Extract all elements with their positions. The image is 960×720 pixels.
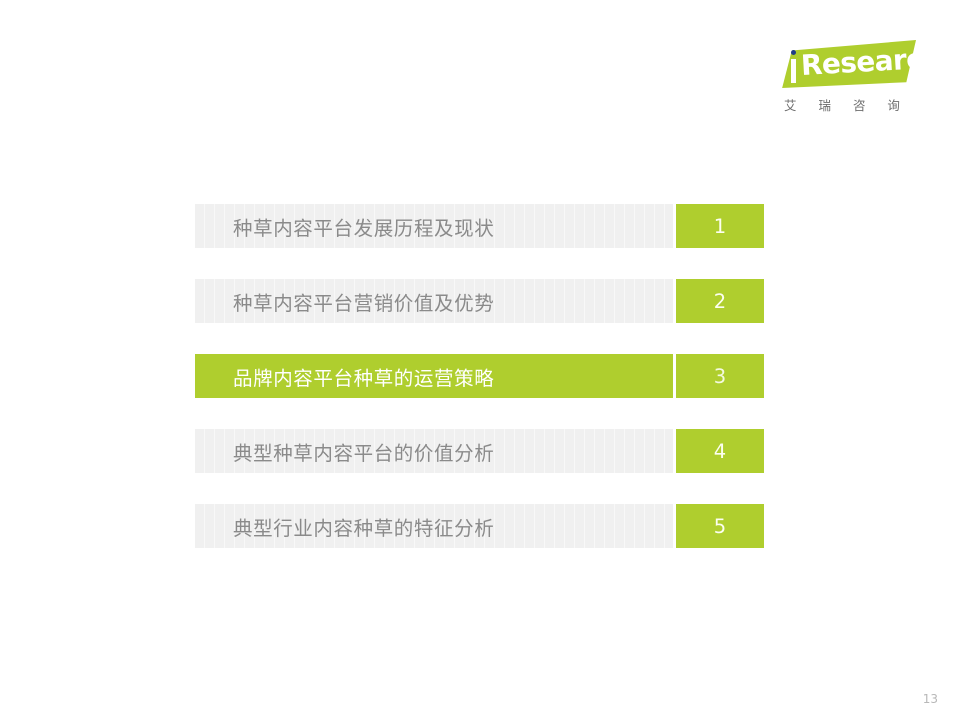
iresearch-logo: Research 艾 瑞 咨 询 <box>778 40 918 115</box>
agenda-row-active[interactable]: 品牌内容平台种草的运营策略 3 <box>195 354 764 398</box>
agenda-row[interactable]: 典型种草内容平台的价值分析 4 <box>195 429 764 473</box>
logo-i-stem-icon <box>791 59 796 83</box>
logo-mark: Research <box>778 40 916 88</box>
logo-wordmark: Research <box>800 41 942 82</box>
agenda-row-number[interactable]: 4 <box>676 429 764 473</box>
agenda-row-title[interactable]: 种草内容平台营销价值及优势 <box>195 279 673 323</box>
agenda-row[interactable]: 种草内容平台营销价值及优势 2 <box>195 279 764 323</box>
agenda-row-number[interactable]: 5 <box>676 504 764 548</box>
logo-subtitle: 艾 瑞 咨 询 <box>778 95 918 114</box>
logo-i-dot-icon <box>791 50 796 55</box>
agenda-row-title[interactable]: 品牌内容平台种草的运营策略 <box>195 354 673 398</box>
agenda-row-title[interactable]: 典型种草内容平台的价值分析 <box>195 429 673 473</box>
agenda-row-number[interactable]: 1 <box>676 204 764 248</box>
agenda-row-number[interactable]: 2 <box>676 279 764 323</box>
agenda-row-title[interactable]: 种草内容平台发展历程及现状 <box>195 204 673 248</box>
agenda-row-title[interactable]: 典型行业内容种草的特征分析 <box>195 504 673 548</box>
agenda-row-number[interactable]: 3 <box>676 354 764 398</box>
agenda-row[interactable]: 种草内容平台发展历程及现状 1 <box>195 204 764 248</box>
agenda-row[interactable]: 典型行业内容种草的特征分析 5 <box>195 504 764 548</box>
agenda-list: 种草内容平台发展历程及现状 1 种草内容平台营销价值及优势 2 品牌内容平台种草… <box>195 204 764 548</box>
page-number: 13 <box>923 692 938 706</box>
